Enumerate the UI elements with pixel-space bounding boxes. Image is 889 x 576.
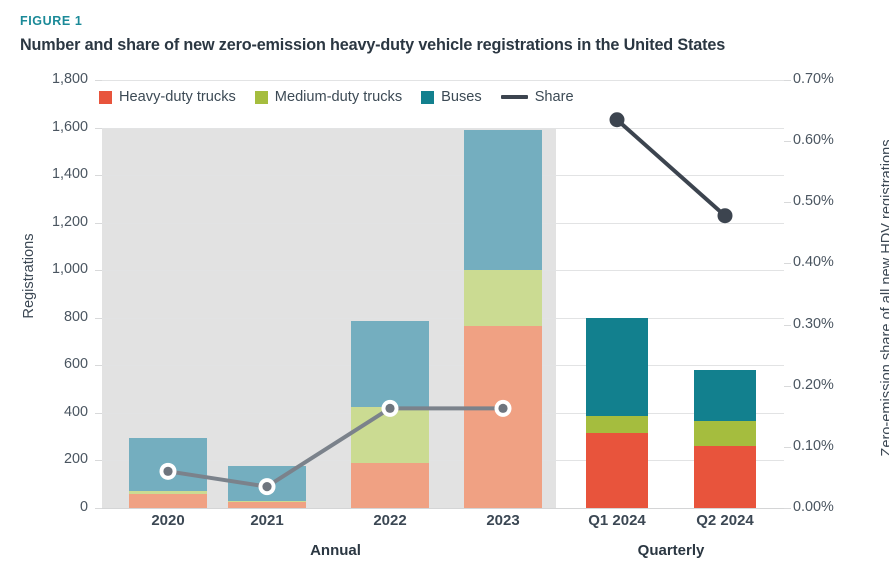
gridline	[102, 223, 784, 224]
gridline	[102, 270, 784, 271]
y-axis-right-tickmark	[784, 386, 791, 387]
x-axis-group-label-annual: Annual	[310, 542, 361, 559]
bar-segment	[351, 407, 429, 463]
y-axis-left-tick-label: 1,400	[30, 166, 88, 182]
bar-segment	[351, 321, 429, 407]
x-axis-tick-label: Q1 2024	[588, 512, 646, 529]
bar-segment	[129, 438, 207, 492]
y-axis-left-tick-label: 1,200	[30, 214, 88, 230]
y-axis-left-tick-label: 1,800	[30, 71, 88, 87]
bar-segment	[351, 463, 429, 508]
y-axis-right-title: Zero-emission share of all new HDV regis…	[879, 108, 889, 488]
x-axis-tick-label: Q2 2024	[696, 512, 754, 529]
bar-segment	[694, 421, 756, 446]
y-axis-right-tick-label: 0.50%	[793, 193, 857, 209]
y-axis-right-tickmark	[784, 263, 791, 264]
gridline	[102, 508, 784, 509]
y-axis-right-tick-label: 0.60%	[793, 132, 857, 148]
chart-plot-area: 02004006008001,0001,2001,4001,6001,8000.…	[0, 0, 889, 576]
bar-segment	[228, 502, 306, 508]
y-axis-left-tickmark	[95, 365, 102, 366]
share-data-point[interactable]	[718, 208, 733, 223]
x-axis-tick-label: 2023	[486, 512, 519, 529]
bar-segment	[694, 370, 756, 421]
bar-segment	[129, 494, 207, 508]
x-axis-tick-label: 2021	[250, 512, 283, 529]
bar-segment	[694, 446, 756, 508]
bar-segment	[586, 318, 648, 417]
y-axis-left-tick-label: 0	[30, 499, 88, 515]
bar-segment	[464, 326, 542, 508]
y-axis-left-tickmark	[95, 460, 102, 461]
y-axis-left-tickmark	[95, 270, 102, 271]
y-axis-right-tick-label: 0.00%	[793, 499, 857, 515]
y-axis-left-tick-label: 600	[30, 356, 88, 372]
y-axis-left-tick-label: 200	[30, 451, 88, 467]
y-axis-left-tick-label: 800	[30, 309, 88, 325]
gridline	[102, 175, 784, 176]
gridline	[102, 365, 784, 366]
x-axis-tick-label: 2022	[373, 512, 406, 529]
gridline	[102, 413, 784, 414]
y-axis-right-tickmark	[784, 141, 791, 142]
y-axis-right-tickmark	[784, 447, 791, 448]
y-axis-right-tick-label: 0.30%	[793, 316, 857, 332]
bar-segment	[464, 270, 542, 326]
y-axis-left-tick-label: 400	[30, 404, 88, 420]
y-axis-right-tickmark	[784, 80, 791, 81]
x-axis-tick-label: 2020	[151, 512, 184, 529]
gridline	[102, 80, 784, 81]
bar-segment	[464, 130, 542, 270]
share-line-quarterly	[617, 120, 725, 216]
y-axis-left-tickmark	[95, 508, 102, 509]
y-axis-left-tickmark	[95, 175, 102, 176]
x-axis-group-label-quarterly: Quarterly	[638, 542, 705, 559]
y-axis-right-tick-label: 0.40%	[793, 254, 857, 270]
y-axis-left-tickmark	[95, 128, 102, 129]
share-data-point[interactable]	[610, 112, 625, 127]
y-axis-right-tick-label: 0.70%	[793, 71, 857, 87]
y-axis-left-tick-label: 1,000	[30, 261, 88, 277]
bar-segment	[228, 466, 306, 500]
y-axis-left-tick-label: 1,600	[30, 119, 88, 135]
y-axis-right-tickmark	[784, 508, 791, 509]
y-axis-left-tickmark	[95, 223, 102, 224]
bar-segment	[228, 501, 306, 502]
y-axis-left-tickmark	[95, 80, 102, 81]
y-axis-right-tick-label: 0.10%	[793, 438, 857, 454]
bar-segment	[586, 433, 648, 508]
y-axis-left-title: Registrations	[21, 191, 37, 361]
gridline	[102, 128, 784, 129]
y-axis-left-tickmark	[95, 413, 102, 414]
gridline	[102, 318, 784, 319]
y-axis-right-tick-label: 0.20%	[793, 377, 857, 393]
bar-segment	[129, 491, 207, 493]
y-axis-left-tickmark	[95, 318, 102, 319]
y-axis-right-tickmark	[784, 325, 791, 326]
bar-segment	[586, 416, 648, 433]
y-axis-right-tickmark	[784, 202, 791, 203]
